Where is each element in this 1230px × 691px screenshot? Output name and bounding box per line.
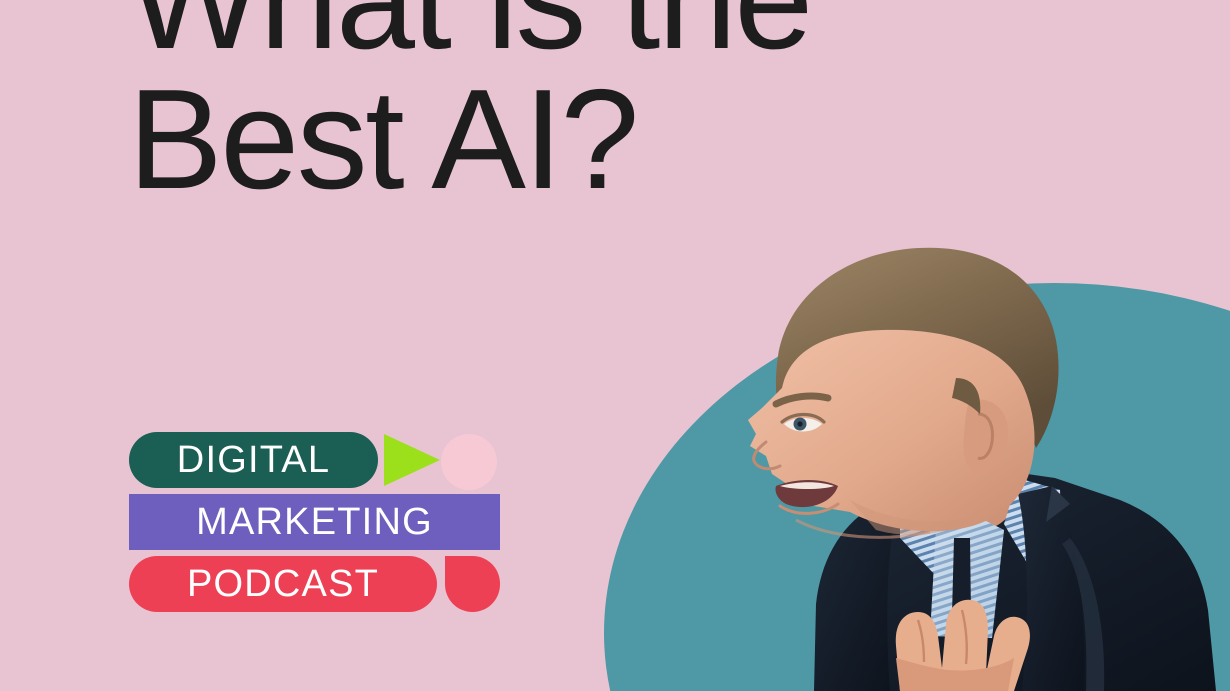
circle-accent-icon: [441, 434, 497, 490]
episode-title: What is the Best AI?: [128, 0, 848, 210]
logo-podcast-pill: PODCAST: [129, 556, 437, 612]
episode-cover-canvas: What is the Best AI? DIGITAL MARKETING P…: [0, 0, 1230, 691]
title-line-2: Best AI?: [128, 70, 848, 210]
host-photo: [600, 238, 1230, 691]
logo-digital-pill: DIGITAL: [129, 432, 378, 488]
pupil: [797, 421, 802, 426]
play-triangle-icon: [384, 434, 440, 486]
logo-marketing-pill: MARKETING: [129, 494, 500, 550]
leaf-accent-icon: [445, 556, 500, 612]
